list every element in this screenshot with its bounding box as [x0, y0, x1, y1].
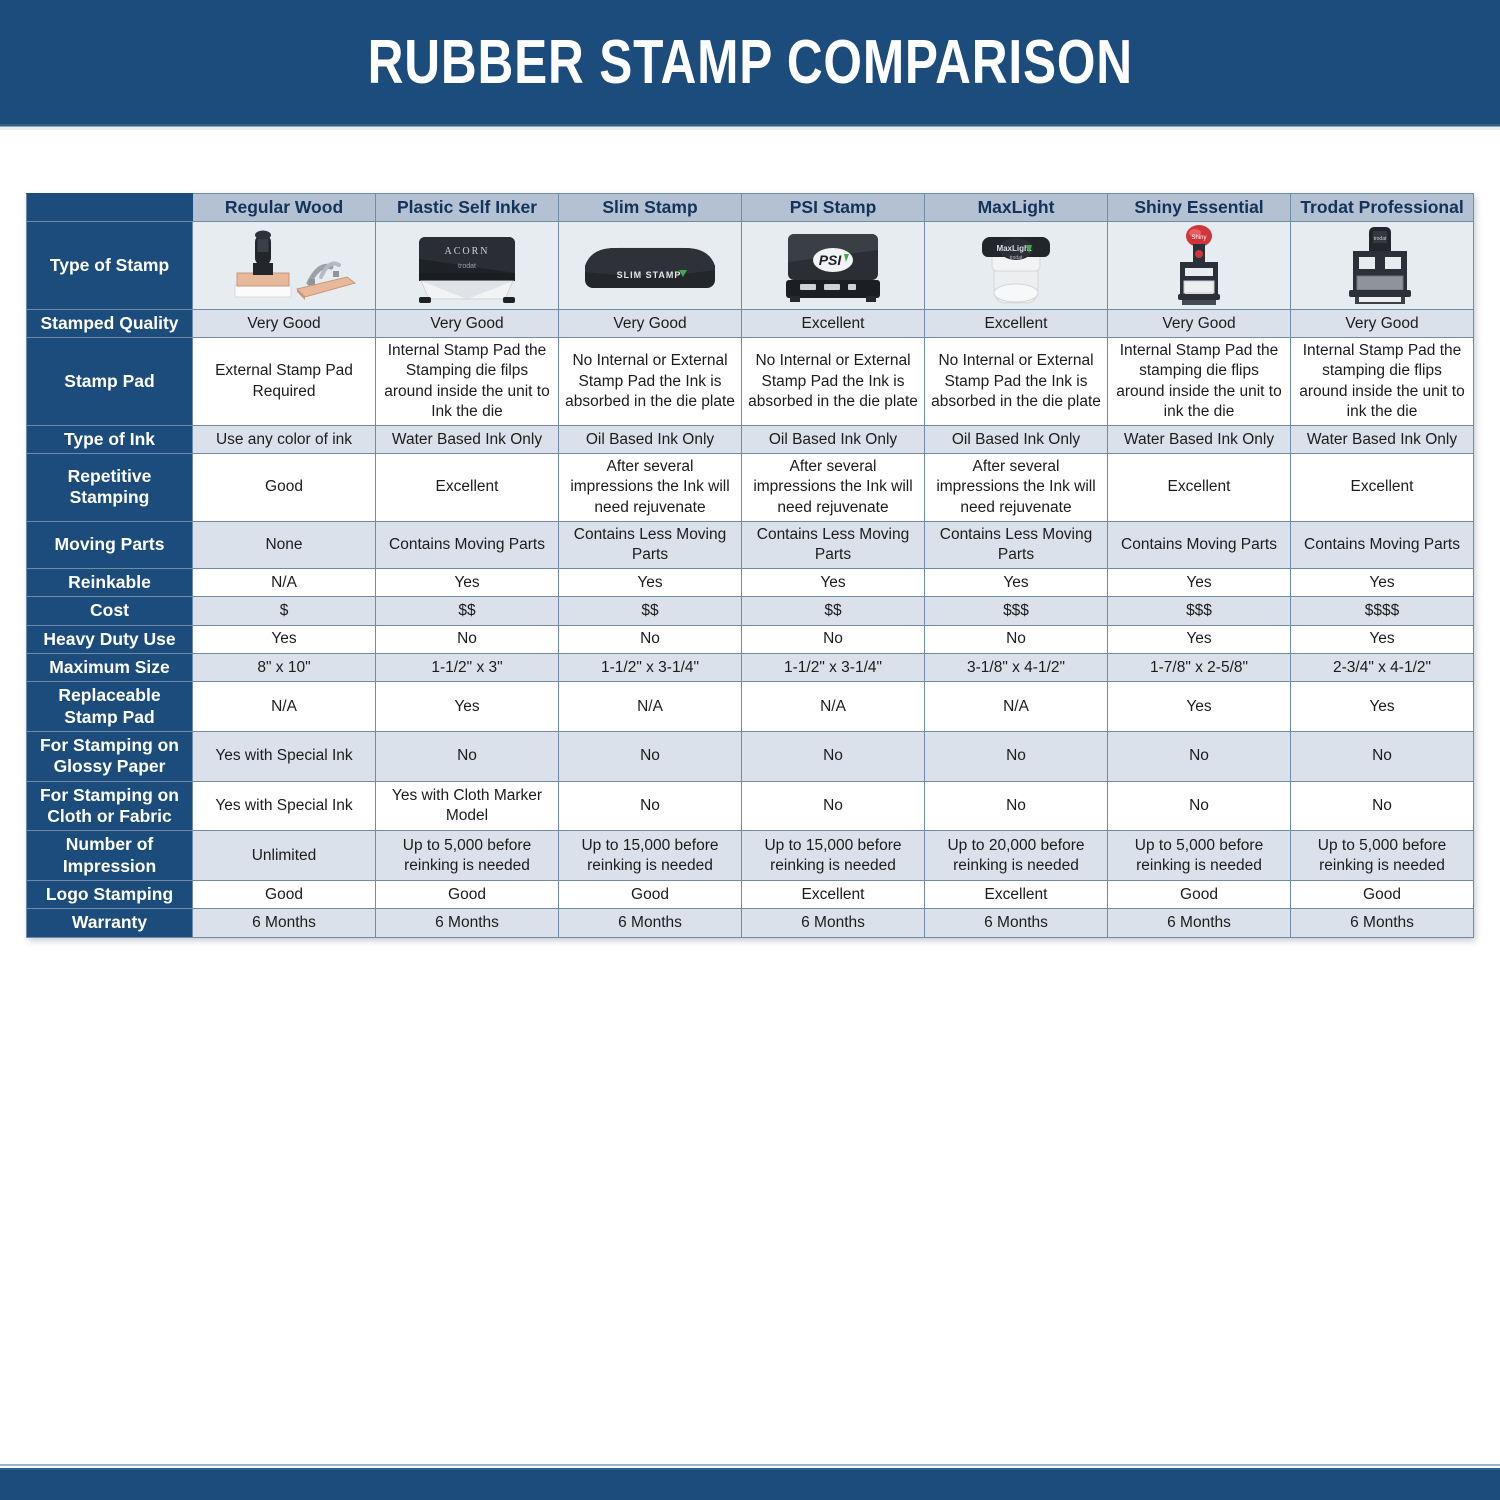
cell-shiny_essential: No	[1108, 781, 1291, 831]
table-row: Replaceable Stamp PadN/AYesN/AN/AN/AYesY…	[27, 682, 1474, 732]
cell-plastic_self_inker: Very Good	[376, 310, 559, 338]
shiny-essential-stamp-icon: Shiny	[1113, 226, 1285, 306]
cell-psi_stamp: No Internal or External Stamp Pad the In…	[742, 338, 925, 426]
table-row: For Stamping on Glossy PaperYes with Spe…	[27, 732, 1474, 782]
cell-shiny_essential: Up to 5,000 before reinking is needed	[1108, 831, 1291, 881]
table-row: For Stamping on Cloth or FabricYes with …	[27, 781, 1474, 831]
table-row: Repetitive StampingGoodExcellentAfter se…	[27, 454, 1474, 521]
column-header-maxlight: MaxLight	[925, 194, 1108, 222]
cell-plastic_self_inker: Yes with Cloth Marker Model	[376, 781, 559, 831]
cell-trodat_professional: No	[1291, 732, 1474, 782]
cell-psi_stamp: Up to 15,000 before reinking is needed	[742, 831, 925, 881]
cell-plastic_self_inker: Excellent	[376, 454, 559, 521]
cell-shiny_essential: Excellent	[1108, 454, 1291, 521]
table-row: ReinkableN/AYesYesYesYesYesYes	[27, 568, 1474, 596]
table-row: Heavy Duty UseYesNoNoNoNoYesYes	[27, 625, 1474, 653]
row-label-stamp-pad: Stamp Pad	[27, 338, 193, 426]
table-head: Regular WoodPlastic Self InkerSlim Stamp…	[27, 194, 1474, 222]
cell-psi_stamp: $$	[742, 597, 925, 625]
row-label-reinkable: Reinkable	[27, 568, 193, 596]
svg-text:PSI: PSI	[819, 252, 843, 268]
cell-maxlight: 3-1/8" x 4-1/2"	[925, 653, 1108, 681]
cell-shiny_essential: Yes	[1108, 625, 1291, 653]
cell-maxlight: Up to 20,000 before reinking is needed	[925, 831, 1108, 881]
cell-slim_stamp: Contains Less Moving Parts	[559, 521, 742, 568]
table-row: Logo StampingGoodGoodGoodExcellentExcell…	[27, 881, 1474, 909]
cell-slim_stamp: Yes	[559, 568, 742, 596]
cell-trodat_professional: Very Good	[1291, 310, 1474, 338]
cell-shiny_essential: $$$	[1108, 597, 1291, 625]
header-banner: RUBBER STAMP COMPARISON	[0, 0, 1500, 124]
slim-stamp-icon: SLIM STAMP	[564, 226, 736, 306]
svg-text:trodat: trodat	[458, 263, 476, 270]
cell-plastic_self_inker: Water Based Ink Only	[376, 425, 559, 453]
column-header-regular_wood: Regular Wood	[193, 194, 376, 222]
table-body: Type of Stamp ACORN trodat	[27, 222, 1474, 938]
cell-slim_stamp: N/A	[559, 682, 742, 732]
cell-plastic_self_inker: 1-1/2" x 3"	[376, 653, 559, 681]
table-row: Stamped QualityVery GoodVery GoodVery Go…	[27, 310, 1474, 338]
cell-trodat_professional: 2-3/4" x 4-1/2"	[1291, 653, 1474, 681]
row-label-moving-parts: Moving Parts	[27, 521, 193, 568]
column-header-plastic_self_inker: Plastic Self Inker	[376, 194, 559, 222]
cell-shiny_essential: Yes	[1108, 682, 1291, 732]
svg-text:Shiny: Shiny	[1191, 235, 1206, 241]
table-row: Cost$$$$$$$$$$$$$$$$$	[27, 597, 1474, 625]
cell-trodat_professional: Excellent	[1291, 454, 1474, 521]
cell-regular_wood: External Stamp Pad Required	[193, 338, 376, 426]
row-label-repetitive-stamping: Repetitive Stamping	[27, 454, 193, 521]
cell-regular_wood: None	[193, 521, 376, 568]
cell-plastic_self_inker: Internal Stamp Pad the Stamping die filp…	[376, 338, 559, 426]
column-header-shiny_essential: Shiny Essential	[1108, 194, 1291, 222]
cell-trodat_professional: No	[1291, 781, 1474, 831]
cell-regular_wood: Very Good	[193, 310, 376, 338]
table-row: Type of Stamp ACORN trodat	[27, 222, 1474, 310]
cell-maxlight: No	[925, 625, 1108, 653]
plastic-self-inker-icon: ACORN trodat	[381, 226, 553, 306]
cell-trodat_professional: Yes	[1291, 568, 1474, 596]
cell-slim_stamp: After several impressions the Ink will n…	[559, 454, 742, 521]
table-row: Stamp PadExternal Stamp Pad RequiredInte…	[27, 338, 1474, 426]
cell-maxlight: No Internal or External Stamp Pad the In…	[925, 338, 1108, 426]
cell-trodat_professional: Water Based Ink Only	[1291, 425, 1474, 453]
cell-plastic_self_inker: No	[376, 625, 559, 653]
cell-psi_stamp: 1-1/2" x 3-1/4"	[742, 653, 925, 681]
svg-text:trodat: trodat	[1374, 236, 1387, 242]
cell-slim_stamp: Up to 15,000 before reinking is needed	[559, 831, 742, 881]
cell-psi_stamp: Oil Based Ink Only	[742, 425, 925, 453]
row-label-maximum-size: Maximum Size	[27, 653, 193, 681]
cell-psi_stamp: After several impressions the Ink will n…	[742, 454, 925, 521]
row-label-for-stamping-on-cloth-or-fabric: For Stamping on Cloth or Fabric	[27, 781, 193, 831]
cell-slim_stamp: Very Good	[559, 310, 742, 338]
maxlight-stamp-icon: MaxLight trodat	[930, 226, 1102, 306]
cell-slim_stamp: No	[559, 732, 742, 782]
row-label-replaceable-stamp-pad: Replaceable Stamp Pad	[27, 682, 193, 732]
cell-regular_wood: 8" x 10"	[193, 653, 376, 681]
cell-plastic_self_inker: 6 Months	[376, 909, 559, 937]
cell-shiny_essential: Water Based Ink Only	[1108, 425, 1291, 453]
row-label-for-stamping-on-glossy-paper: For Stamping on Glossy Paper	[27, 732, 193, 782]
cell-maxlight: Excellent	[925, 310, 1108, 338]
column-header-trodat_professional: Trodat Professional	[1291, 194, 1474, 222]
cell-maxlight: Contains Less Moving Parts	[925, 521, 1108, 568]
row-label-heavy-duty-use: Heavy Duty Use	[27, 625, 193, 653]
column-header-row: Regular WoodPlastic Self InkerSlim Stamp…	[27, 194, 1474, 222]
cell-shiny_essential: Yes	[1108, 568, 1291, 596]
row-label-cost: Cost	[27, 597, 193, 625]
row-label-type-of-stamp: Type of Stamp	[27, 222, 193, 310]
cell-shiny_essential: No	[1108, 732, 1291, 782]
cell-psi_stamp: No	[742, 781, 925, 831]
cell-regular_wood: Yes	[193, 625, 376, 653]
cell-regular_wood: Good	[193, 454, 376, 521]
cell-regular_wood: Good	[193, 881, 376, 909]
cell-slim_stamp: $$	[559, 597, 742, 625]
cell-psi_stamp: Contains Less Moving Parts	[742, 521, 925, 568]
cell-plastic_self_inker: Yes	[376, 568, 559, 596]
cell-regular_wood: Yes with Special Ink	[193, 732, 376, 782]
cell-regular_wood: N/A	[193, 682, 376, 732]
cell-regular_wood: 6 Months	[193, 909, 376, 937]
cell-psi_stamp: Yes	[742, 568, 925, 596]
cell-maxlight: Excellent	[925, 881, 1108, 909]
stamp-image-cell-trodat_professional: trodat	[1291, 222, 1474, 310]
cell-maxlight: Yes	[925, 568, 1108, 596]
cell-slim_stamp: Oil Based Ink Only	[559, 425, 742, 453]
cell-slim_stamp: No	[559, 781, 742, 831]
cell-maxlight: After several impressions the Ink will n…	[925, 454, 1108, 521]
cell-trodat_professional: $$$$	[1291, 597, 1474, 625]
cell-maxlight: $$$	[925, 597, 1108, 625]
cell-plastic_self_inker: Good	[376, 881, 559, 909]
cell-psi_stamp: Excellent	[742, 310, 925, 338]
row-label-warranty: Warranty	[27, 909, 193, 937]
cell-maxlight: No	[925, 781, 1108, 831]
row-label-stamped-quality: Stamped Quality	[27, 310, 193, 338]
cell-plastic_self_inker: No	[376, 732, 559, 782]
cell-regular_wood: N/A	[193, 568, 376, 596]
cell-plastic_self_inker: Contains Moving Parts	[376, 521, 559, 568]
column-header-psi_stamp: PSI Stamp	[742, 194, 925, 222]
cell-psi_stamp: No	[742, 732, 925, 782]
cell-plastic_self_inker: $$	[376, 597, 559, 625]
table-row: Warranty6 Months6 Months6 Months6 Months…	[27, 909, 1474, 937]
footer-banner	[0, 1470, 1500, 1500]
cell-slim_stamp: No Internal or External Stamp Pad the In…	[559, 338, 742, 426]
cell-psi_stamp: No	[742, 625, 925, 653]
cell-slim_stamp: Good	[559, 881, 742, 909]
cell-plastic_self_inker: Yes	[376, 682, 559, 732]
cell-trodat_professional: Internal Stamp Pad the stamping die flip…	[1291, 338, 1474, 426]
cell-shiny_essential: 1-7/8" x 2-5/8"	[1108, 653, 1291, 681]
cell-slim_stamp: 1-1/2" x 3-1/4"	[559, 653, 742, 681]
table-row: Number of ImpressionUnlimitedUp to 5,000…	[27, 831, 1474, 881]
stamp-image-cell-regular_wood	[193, 222, 376, 310]
column-header-slim_stamp: Slim Stamp	[559, 194, 742, 222]
stamp-image-cell-psi_stamp: PSI	[742, 222, 925, 310]
psi-stamp-icon: PSI	[747, 226, 919, 306]
wood-handle-stamp-icon	[198, 226, 370, 306]
stamp-image-cell-plastic_self_inker: ACORN trodat	[376, 222, 559, 310]
cell-shiny_essential: 6 Months	[1108, 909, 1291, 937]
table-row: Type of InkUse any color of inkWater Bas…	[27, 425, 1474, 453]
cell-psi_stamp: Excellent	[742, 881, 925, 909]
stamp-image-cell-slim_stamp: SLIM STAMP	[559, 222, 742, 310]
cell-slim_stamp: 6 Months	[559, 909, 742, 937]
cell-trodat_professional: Up to 5,000 before reinking is needed	[1291, 831, 1474, 881]
cell-shiny_essential: Very Good	[1108, 310, 1291, 338]
svg-text:ACORN: ACORN	[444, 246, 489, 257]
row-label-number-of-impression: Number of Impression	[27, 831, 193, 881]
cell-trodat_professional: 6 Months	[1291, 909, 1474, 937]
svg-text:trodat: trodat	[1010, 255, 1023, 261]
cell-regular_wood: Unlimited	[193, 831, 376, 881]
cell-shiny_essential: Contains Moving Parts	[1108, 521, 1291, 568]
table-row: Maximum Size8" x 10"1-1/2" x 3"1-1/2" x …	[27, 653, 1474, 681]
stamp-image-cell-maxlight: MaxLight trodat	[925, 222, 1108, 310]
cell-trodat_professional: Yes	[1291, 625, 1474, 653]
cell-shiny_essential: Internal Stamp Pad the stamping die flip…	[1108, 338, 1291, 426]
table-corner-cell	[27, 194, 193, 222]
cell-maxlight: Oil Based Ink Only	[925, 425, 1108, 453]
cell-trodat_professional: Good	[1291, 881, 1474, 909]
stamp-comparison-table: Regular WoodPlastic Self InkerSlim Stamp…	[26, 193, 1474, 938]
cell-regular_wood: Yes with Special Ink	[193, 781, 376, 831]
row-label-logo-stamping: Logo Stamping	[27, 881, 193, 909]
table-row: Moving PartsNoneContains Moving PartsCon…	[27, 521, 1474, 568]
trodat-professional-stamp-icon: trodat	[1296, 226, 1468, 306]
header-divider	[0, 124, 1500, 130]
cell-psi_stamp: 6 Months	[742, 909, 925, 937]
cell-psi_stamp: N/A	[742, 682, 925, 732]
cell-regular_wood: $	[193, 597, 376, 625]
cell-shiny_essential: Good	[1108, 881, 1291, 909]
page-title: RUBBER STAMP COMPARISON	[367, 27, 1132, 98]
cell-trodat_professional: Contains Moving Parts	[1291, 521, 1474, 568]
cell-maxlight: 6 Months	[925, 909, 1108, 937]
row-label-type-of-ink: Type of Ink	[27, 425, 193, 453]
stamp-image-cell-shiny_essential: Shiny	[1108, 222, 1291, 310]
svg-text:SLIM STAMP: SLIM STAMP	[617, 270, 682, 280]
cell-plastic_self_inker: Up to 5,000 before reinking is needed	[376, 831, 559, 881]
cell-slim_stamp: No	[559, 625, 742, 653]
cell-maxlight: N/A	[925, 682, 1108, 732]
cell-maxlight: No	[925, 732, 1108, 782]
cell-regular_wood: Use any color of ink	[193, 425, 376, 453]
cell-trodat_professional: Yes	[1291, 682, 1474, 732]
